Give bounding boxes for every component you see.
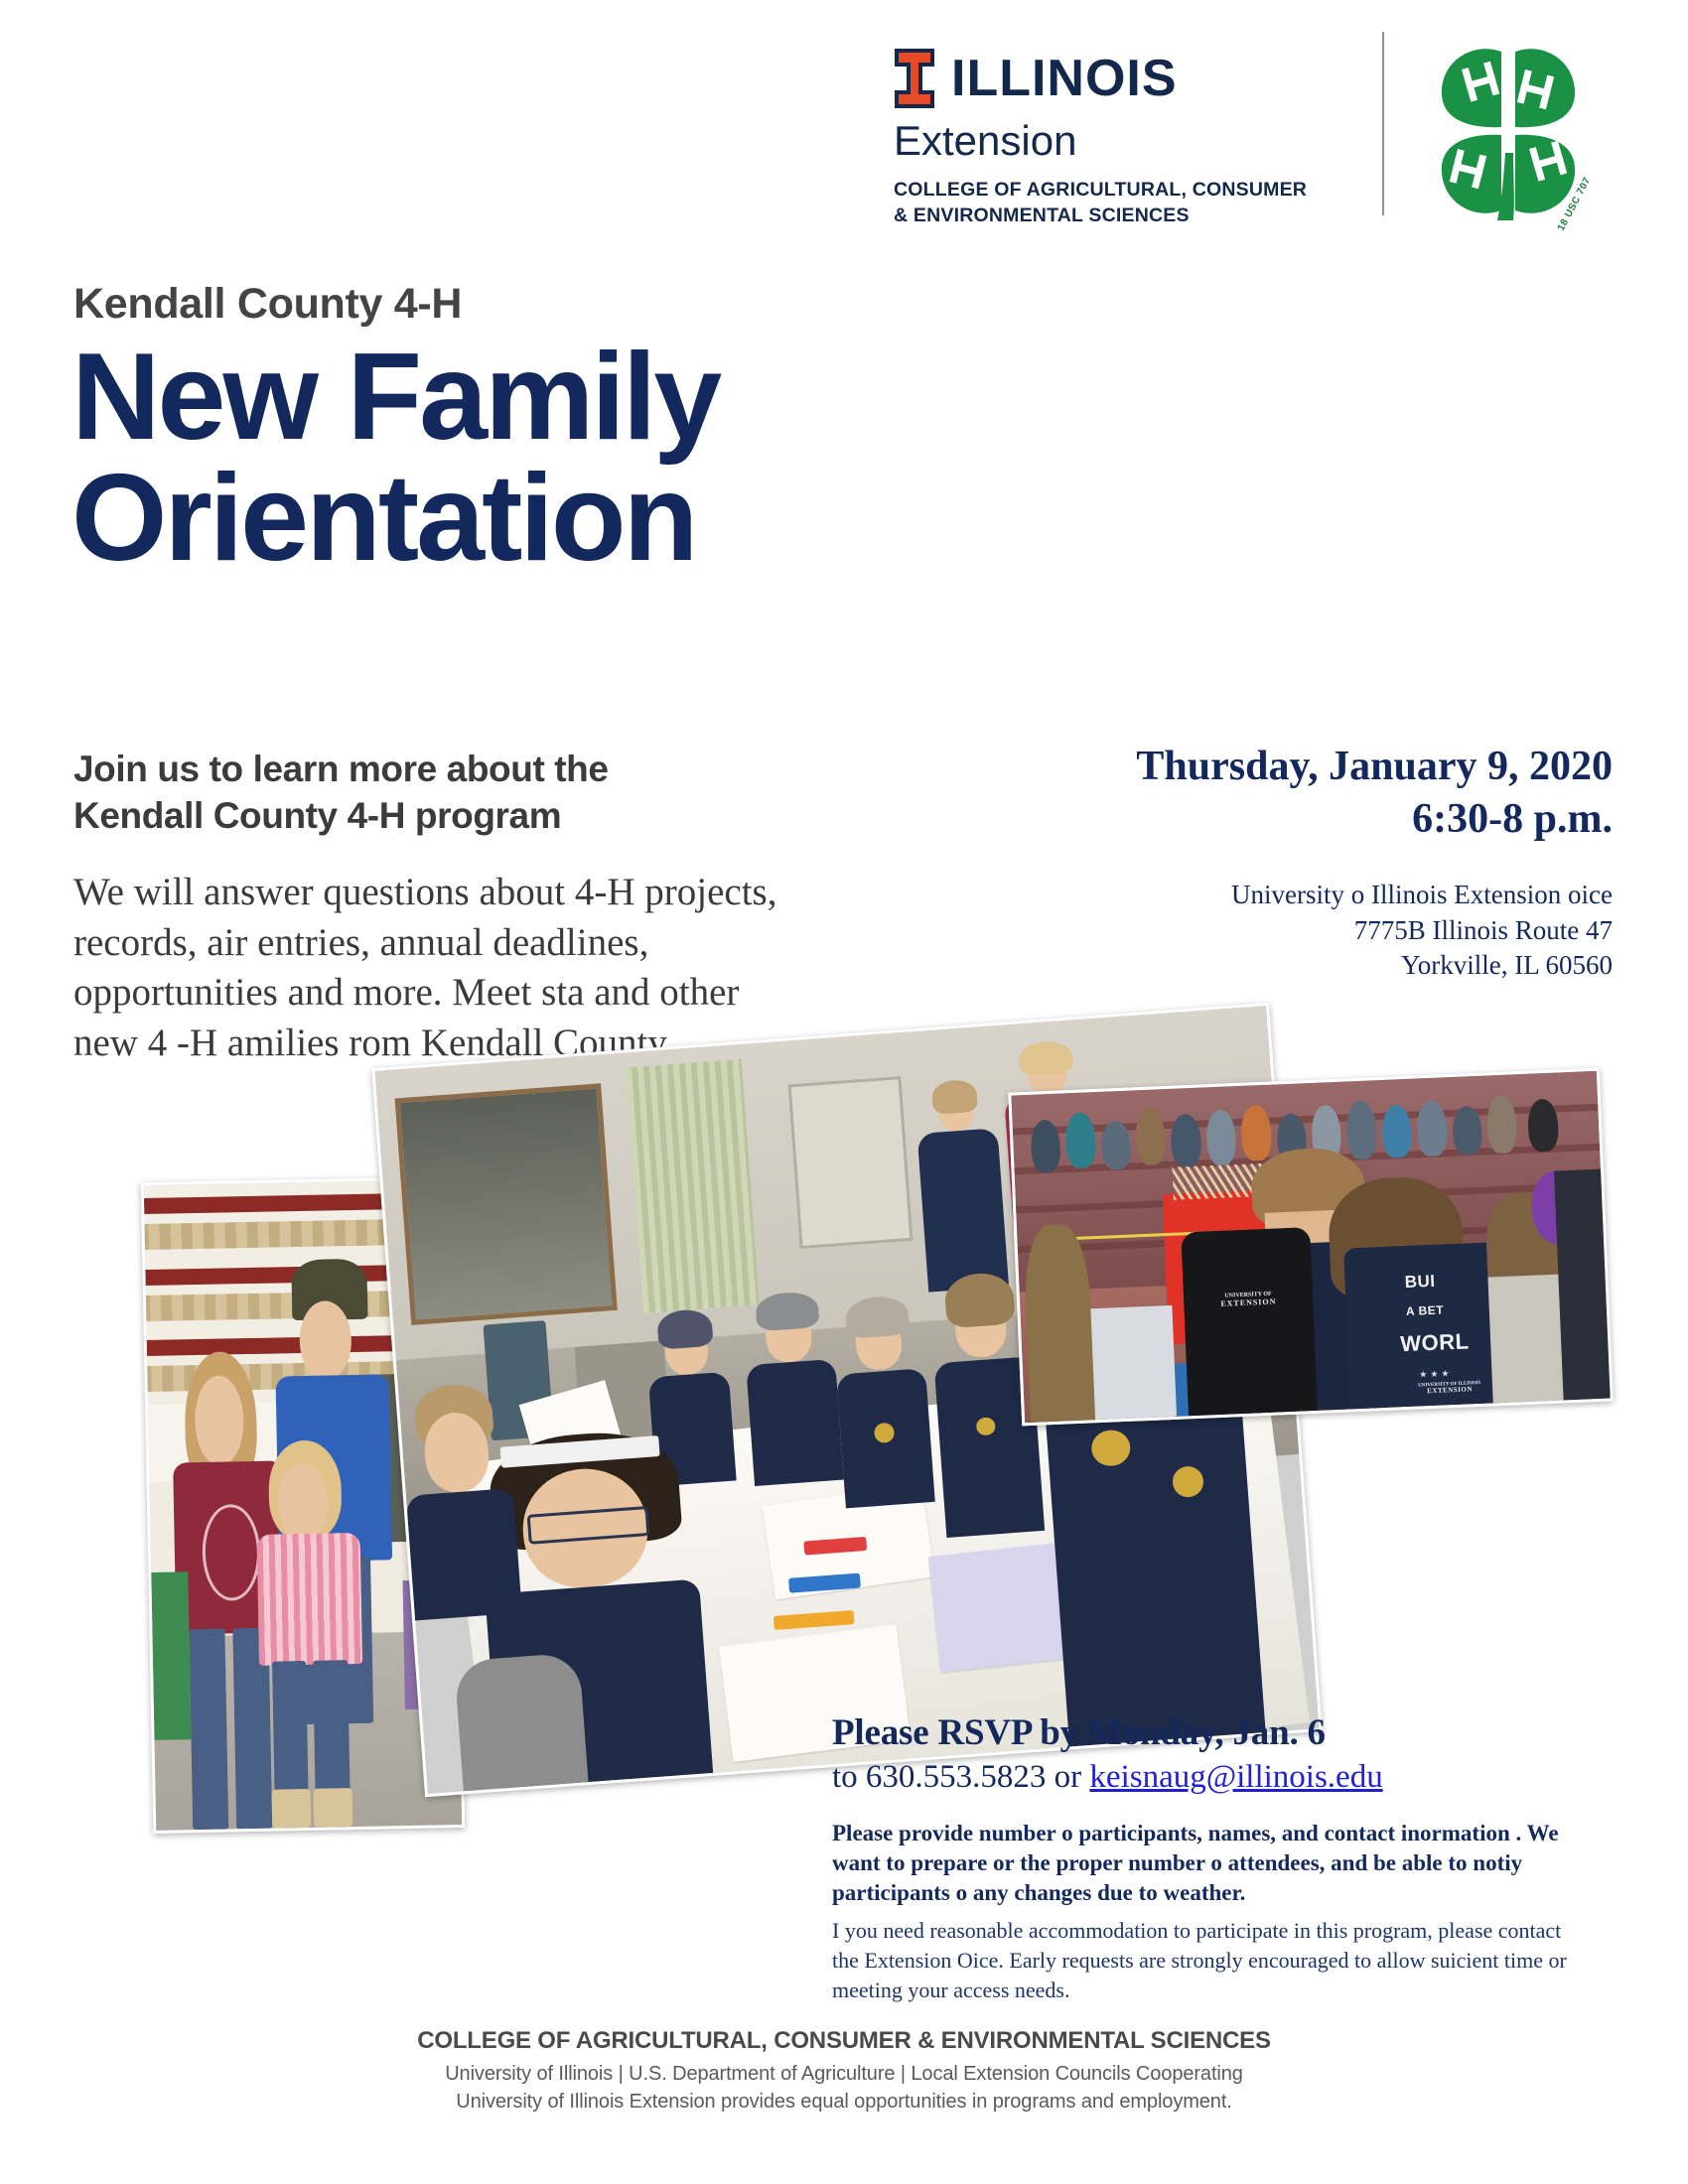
footer-heading: COLLEGE OF AGRICULTURAL, CONSUMER & ENVI…	[0, 2027, 1688, 2055]
rsvp-heading: Please RSVP by Monday, Jan. 6	[832, 1711, 1326, 1754]
event-location: University o Illinois Extension oice 777…	[977, 878, 1613, 984]
footer: COLLEGE OF AGRICULTURAL, CONSUMER & ENVI…	[0, 2027, 1688, 2114]
page-title-line-2: Orientation	[71, 459, 1084, 580]
lead-line-2: Kendall County 4-H program	[73, 793, 769, 840]
photo-collage: UNIVERSITY OF EXTENSION BUI A BET WORL ★…	[0, 1032, 1688, 1767]
flyer-page: ILLINOIS Extension COLLEGE OF AGRICULTUR…	[0, 0, 1688, 2184]
accommodation-note: I you need reasonable accommodation to p…	[832, 1916, 1567, 2005]
lead-line-1: Join us to learn more about the	[73, 747, 769, 793]
tote-word-2: A BET	[1406, 1304, 1445, 1318]
college-name-line-1: COLLEGE OF AGRICULTURAL, CONSUMER	[894, 178, 1350, 204]
rsvp-email-link[interactable]: keisnaug@illinois.edu	[1089, 1759, 1382, 1795]
header: ILLINOIS Extension COLLEGE OF AGRICULTUR…	[0, 0, 1688, 248]
illinois-wordmark: ILLINOIS	[951, 53, 1178, 104]
footer-line-1: University of Illinois | U.S. Department…	[0, 2063, 1688, 2086]
illinois-block-i-icon	[894, 48, 935, 109]
page-title-line-1: New Family	[71, 338, 1084, 459]
illinois-extension-logo: ILLINOIS Extension COLLEGE OF AGRICULTUR…	[894, 48, 1350, 229]
venue-city: Yorkville, IL 60560	[977, 948, 1613, 984]
rsvp-note-bold: Please provide number o participants, na…	[832, 1819, 1567, 1908]
tote-word-1: BUI	[1404, 1273, 1435, 1291]
event-time: 6:30-8 p.m.	[977, 793, 1613, 846]
rsvp-phone-text: to 630.553.5823 or	[832, 1759, 1089, 1795]
photo-bridge-competition: UNIVERSITY OF EXTENSION BUI A BET WORL ★…	[1008, 1068, 1614, 1427]
page-title: New Family Orientation	[71, 338, 1084, 579]
event-datetime: Thursday, January 9, 2020 6:30-8 p.m.	[977, 741, 1613, 846]
college-name: COLLEGE OF AGRICULTURAL, CONSUMER & ENVI…	[894, 178, 1350, 228]
venue-street: 7775B Illinois Route 47	[977, 913, 1613, 949]
extension-wordmark: Extension	[894, 117, 1350, 164]
college-name-line-2: & ENVIRONMENTAL SCIENCES	[894, 204, 1350, 229]
event-date: Thursday, January 9, 2020	[977, 741, 1613, 793]
venue-name: University o Illinois Extension oice	[977, 878, 1613, 913]
footer-line-2: University of Illinois Extension provide…	[0, 2091, 1688, 2114]
eyebrow-text: Kendall County 4-H	[73, 280, 462, 329]
four-h-clover-icon: 18 USC 707	[1414, 34, 1603, 222]
lead-paragraph: Join us to learn more about the Kendall …	[73, 747, 769, 839]
header-divider	[1382, 32, 1384, 215]
tote-word-3: WORL	[1400, 1330, 1470, 1355]
rsvp-contact: to 630.553.5823 or keisnaug@illinois.edu	[832, 1759, 1383, 1796]
